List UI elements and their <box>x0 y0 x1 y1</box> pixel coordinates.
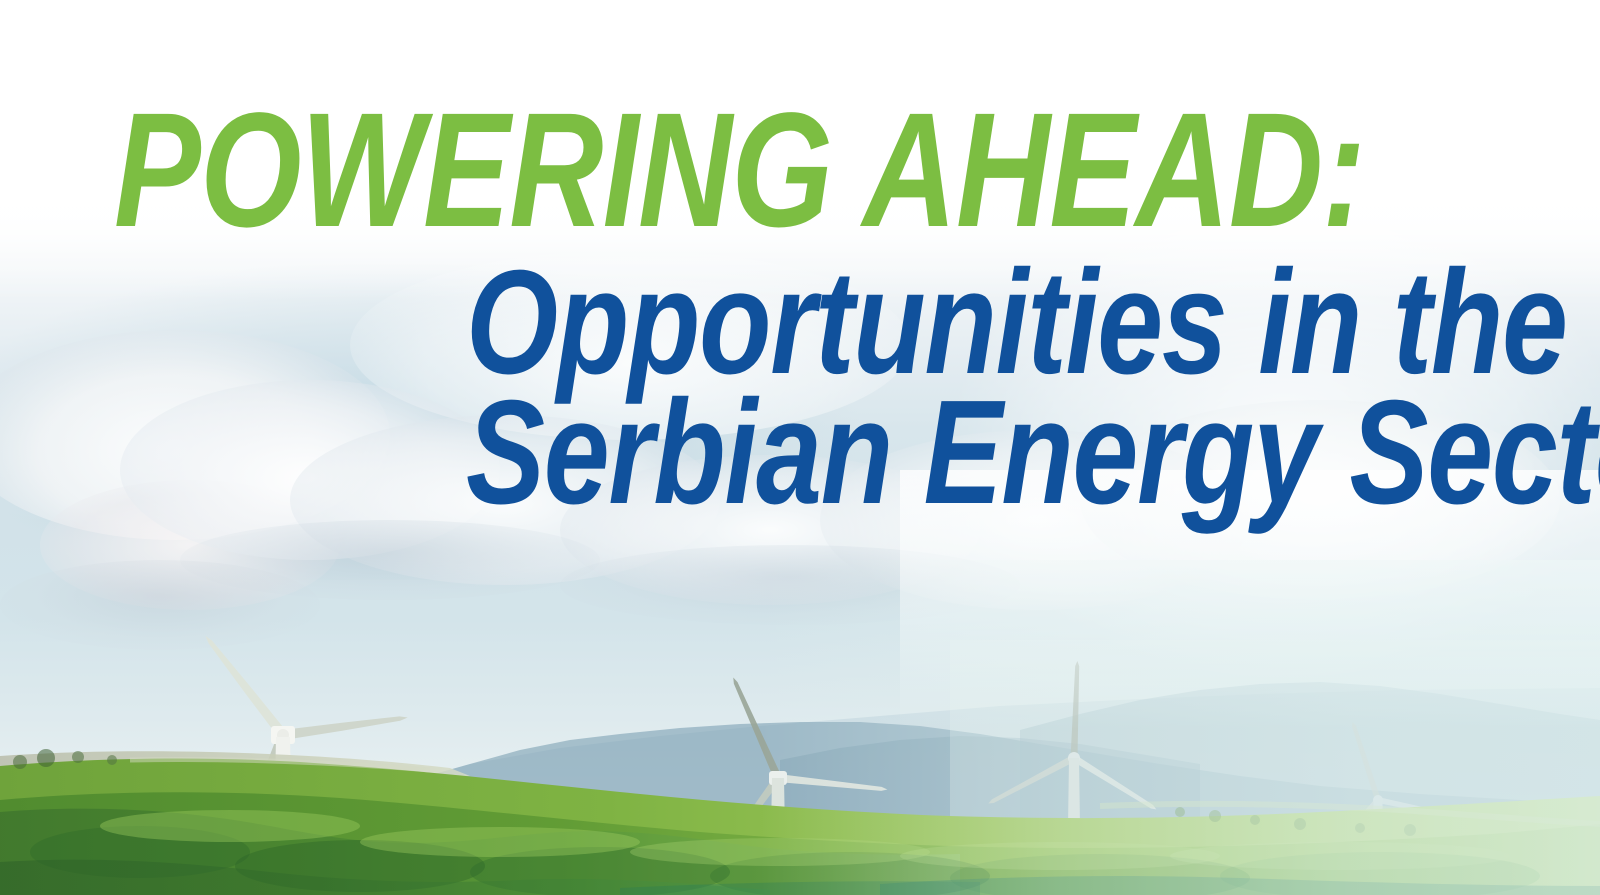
page-subtitle-line-1: Opportunities in the <box>466 258 1600 388</box>
page-headline: POWERING AHEAD: <box>114 88 1365 251</box>
hill-crest-5 <box>1170 842 1510 870</box>
hill-crest-2 <box>360 827 640 857</box>
hill-crest-1 <box>100 810 360 842</box>
page-subtitle: Opportunities in the Serbian Energy Sect… <box>466 258 1600 518</box>
page-subtitle-line-2: Serbian Energy Sector <box>466 388 1600 518</box>
hill-crest-3 <box>630 838 930 866</box>
poster-canvas: POWERING AHEAD: Opportunities in the Ser… <box>0 0 1600 895</box>
